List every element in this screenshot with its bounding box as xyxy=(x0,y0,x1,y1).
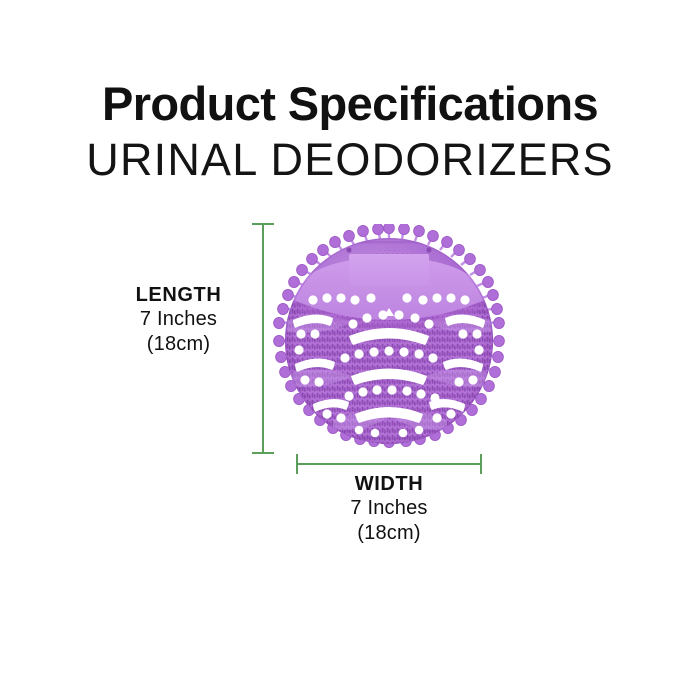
width-label-name: WIDTH xyxy=(296,472,482,496)
width-label-value: 7 Inches xyxy=(296,496,482,521)
width-label-metric: (18cm) xyxy=(296,521,482,546)
length-label-metric: (18cm) xyxy=(96,332,261,357)
length-label-value: 7 Inches xyxy=(96,307,261,332)
length-dimension-label: LENGTH 7 Inches (18cm) xyxy=(96,283,261,357)
length-label-name: LENGTH xyxy=(96,283,261,307)
width-dimension-label: WIDTH 7 Inches (18cm) xyxy=(296,472,482,546)
length-dimension-line xyxy=(262,224,264,454)
heading-block: Product Specifications URINAL DEODORIZER… xyxy=(0,78,700,186)
width-dimension-line xyxy=(296,463,482,465)
urinal-screen-image xyxy=(271,224,507,458)
product-specifications-page: Product Specifications URINAL DEODORIZER… xyxy=(0,0,700,700)
page-title: Product Specifications xyxy=(0,78,700,130)
page-subtitle: URINAL DEODORIZERS xyxy=(0,134,700,186)
